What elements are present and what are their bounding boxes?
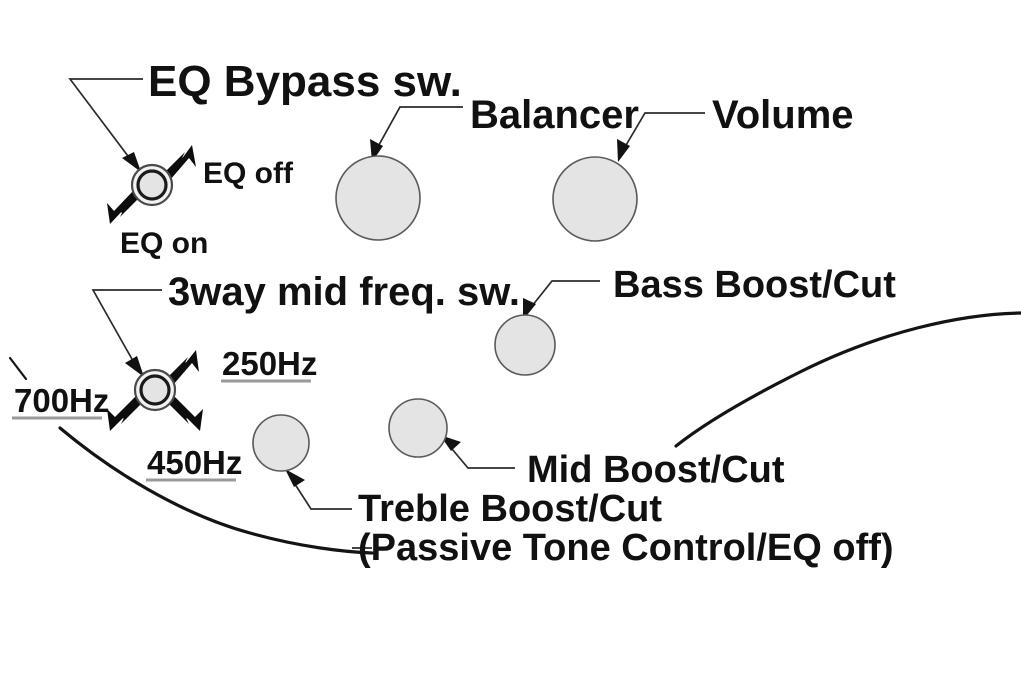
label-treble-passive-note: (Passive Tone Control/EQ off) [358, 527, 894, 569]
label-mid-boost-cut: Mid Boost/Cut [527, 449, 785, 491]
body-outline-right [676, 313, 1021, 446]
label-freq-450: 450Hz [147, 444, 242, 481]
body-outline-tick [10, 358, 26, 379]
mid-freq-leader-line [93, 290, 162, 368]
eq-bypass-switch[interactable] [138, 171, 166, 199]
label-eq-on: EQ on [120, 227, 208, 260]
mid-knob[interactable] [389, 399, 447, 457]
label-freq-700: 700Hz [14, 382, 109, 419]
label-volume: Volume [712, 93, 854, 137]
balancer-leader-line [375, 107, 463, 152]
treble-knob[interactable] [253, 415, 309, 471]
diagram-canvas: EQ Bypass sw. EQ off EQ on Balancer Volu… [0, 0, 1021, 700]
label-freq-250: 250Hz [222, 345, 317, 382]
label-bass-boost-cut: Bass Boost/Cut [613, 264, 896, 306]
label-3way-mid-freq: 3way mid freq. sw. [168, 270, 520, 314]
eq-bypass-leader-arrowhead [122, 152, 141, 172]
treble-leader-arrowhead [285, 469, 305, 487]
control-layout-diagram: EQ Bypass sw. EQ off EQ on Balancer Volu… [0, 0, 1021, 700]
balancer-knob[interactable] [336, 156, 420, 240]
mid-leader-line [447, 443, 515, 468]
volume-knob[interactable] [553, 157, 637, 241]
bass-knob[interactable] [495, 315, 555, 375]
label-eq-bypass: EQ Bypass sw. [148, 57, 462, 106]
label-balancer: Balancer [470, 93, 639, 137]
eq-bypass-leader-line [70, 79, 143, 164]
mid-freq-switch[interactable] [141, 376, 169, 404]
label-eq-off: EQ off [203, 157, 294, 190]
label-treble-boost-cut: Treble Boost/Cut [358, 488, 662, 530]
mid-freq-leader-arrowhead [125, 356, 144, 377]
bass-leader-line [528, 281, 600, 311]
